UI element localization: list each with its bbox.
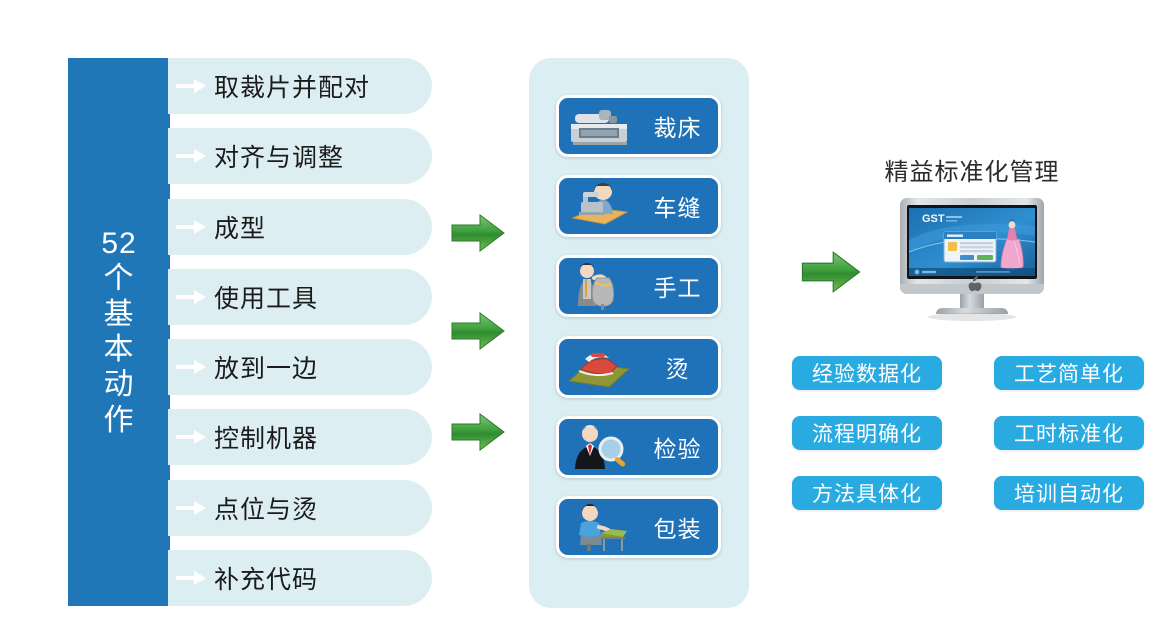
packing-worker-icon [559, 499, 641, 555]
process-card-label: 检验 [641, 430, 718, 464]
benefit-tag-4[interactable]: 工时标准化 [994, 416, 1144, 450]
white-right-arrow-icon [176, 219, 206, 235]
page-title: 精益标准化管理 [862, 152, 1082, 187]
action-pill-8[interactable]: 补充代码 [168, 550, 432, 606]
flow-arrow-1 [450, 213, 506, 253]
action-pill-label: 点位与烫 [214, 490, 318, 526]
action-pill-label: 补充代码 [214, 560, 318, 596]
diagram-canvas: 52个基本动作 取裁片并配对 对齐与调整 成型 使用工具 [0, 0, 1153, 632]
white-right-arrow-icon [176, 570, 206, 586]
action-pill-list: 取裁片并配对 对齐与调整 成型 使用工具 放到一边 [168, 58, 432, 606]
sewing-operator-icon [559, 178, 641, 234]
process-card-label: 烫 [641, 350, 718, 384]
action-pill-label: 控制机器 [214, 419, 318, 455]
process-card-6[interactable]: 包装 [556, 496, 721, 558]
process-card-2[interactable]: 车缝 [556, 175, 721, 237]
action-pill-label: 放到一边 [214, 349, 318, 385]
benefit-tag-6[interactable]: 培训自动化 [994, 476, 1144, 510]
basic-actions-bar-label: 52个基本动作 [99, 226, 139, 438]
white-right-arrow-icon [176, 359, 206, 375]
benefit-tag-5[interactable]: 方法具体化 [792, 476, 942, 510]
benefit-tag-1[interactable]: 经验数据化 [792, 356, 942, 390]
white-right-arrow-icon [176, 78, 206, 94]
tailor-mannequin-icon [559, 258, 641, 314]
imac-monitor-icon: GST [898, 196, 1046, 324]
basic-actions-bar: 52个基本动作 [68, 58, 170, 606]
benefit-tag-grid: 经验数据化 工艺简单化 流程明确化 工时标准化 方法具体化 培训自动化 [792, 356, 1144, 516]
flow-arrow-4 [800, 250, 862, 294]
action-pill-label: 成型 [214, 209, 266, 245]
action-pill-7[interactable]: 点位与烫 [168, 480, 432, 536]
action-pill-3[interactable]: 成型 [168, 199, 432, 255]
flow-arrow-3 [450, 412, 506, 452]
benefit-tag-2[interactable]: 工艺简单化 [994, 356, 1144, 390]
process-card-1[interactable]: 裁床 [556, 95, 721, 157]
process-card-label: 车缝 [641, 189, 718, 223]
process-card-label: 手工 [641, 269, 718, 303]
white-right-arrow-icon [176, 148, 206, 164]
process-card-label: 裁床 [641, 109, 718, 143]
svg-text:GST: GST [922, 213, 945, 225]
cutting-machine-icon [559, 98, 641, 154]
white-right-arrow-icon [176, 289, 206, 305]
action-pill-5[interactable]: 放到一边 [168, 339, 432, 395]
iron-icon [559, 339, 641, 395]
action-pill-label: 取裁片并配对 [214, 68, 370, 104]
action-pill-label: 使用工具 [214, 279, 318, 315]
benefit-tag-3[interactable]: 流程明确化 [792, 416, 942, 450]
flow-arrow-2 [450, 311, 506, 351]
action-pill-1[interactable]: 取裁片并配对 [168, 58, 432, 114]
process-card-3[interactable]: 手工 [556, 255, 721, 317]
action-pill-2[interactable]: 对齐与调整 [168, 128, 432, 184]
process-card-list: 裁床 车缝 [556, 95, 721, 558]
action-pill-label: 对齐与调整 [214, 138, 344, 174]
process-card-label: 包装 [641, 510, 718, 544]
white-right-arrow-icon [176, 500, 206, 516]
process-card-5[interactable]: 检验 [556, 416, 721, 478]
inspector-magnifier-icon [559, 419, 641, 475]
action-pill-4[interactable]: 使用工具 [168, 269, 432, 325]
white-right-arrow-icon [176, 429, 206, 445]
action-pill-6[interactable]: 控制机器 [168, 409, 432, 465]
process-card-4[interactable]: 烫 [556, 336, 721, 398]
